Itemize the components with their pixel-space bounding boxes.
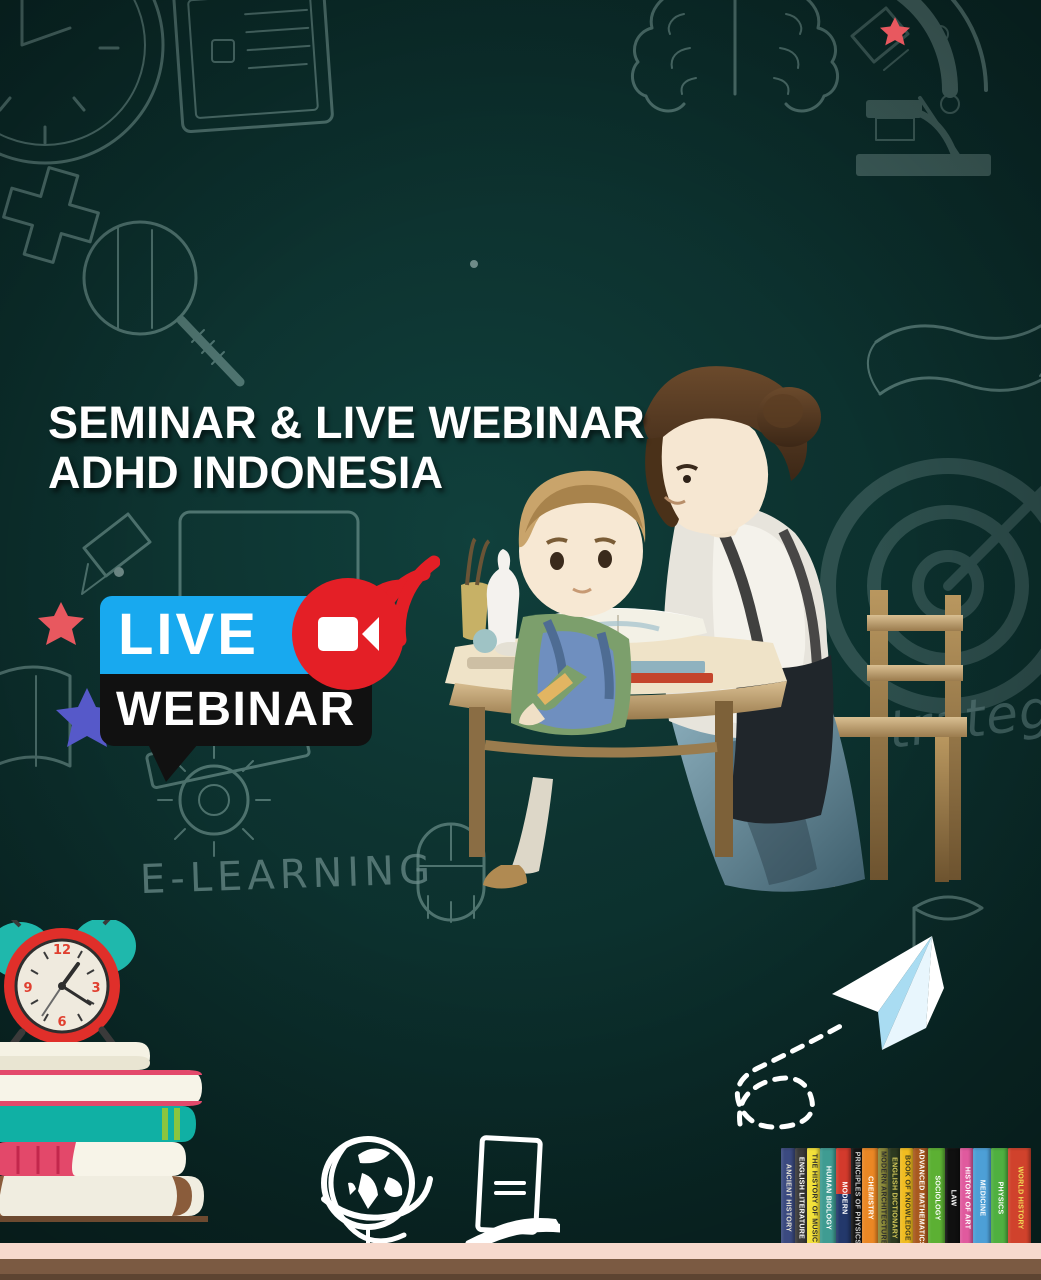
magnifier-icon — [84, 222, 240, 382]
clock-icon — [0, 0, 163, 163]
plane-trail — [737, 1022, 848, 1127]
book-spine: Modern Architecture — [878, 1148, 888, 1248]
globe-icon — [324, 1139, 430, 1257]
book-spine: Physics — [991, 1148, 1008, 1248]
live-webinar-badge[interactable]: LIVE WEBINAR — [96, 556, 446, 786]
paper-plane-decoration — [700, 928, 1000, 1138]
clipboard-icon — [173, 0, 333, 132]
svg-text:3: 3 — [91, 981, 100, 996]
book-spine: Sociology — [928, 1148, 945, 1248]
book-spine: The History of Music — [807, 1148, 820, 1248]
svg-text:12: 12 — [53, 943, 71, 958]
alarm-clock-icon: 12 9 3 6 — [0, 920, 138, 1048]
tablet-book-icon — [468, 1138, 560, 1253]
paper-plane-icon — [832, 936, 944, 1050]
webinar-label: WEBINAR — [116, 680, 366, 740]
star-red-small-icon — [880, 16, 910, 46]
book-spine: English Literature — [795, 1148, 807, 1248]
shelf-surface — [0, 1243, 1041, 1259]
svg-text:6: 6 — [57, 1015, 66, 1030]
book-stack — [0, 1042, 208, 1222]
page-title: SEMINAR & LIVE WEBINAR ADHD INDONESIA — [48, 398, 645, 499]
book-spine: Chemistry — [862, 1148, 878, 1248]
book-spine: Modern — [836, 1148, 851, 1248]
book-spine: History of Art — [960, 1148, 973, 1248]
book-spine: World History — [1008, 1148, 1031, 1248]
poster-canvas: E-LEARNING trateg — [0, 0, 1041, 1280]
book-spine: English Dictionary — [888, 1148, 900, 1248]
book-spine: Advanced Mathematics — [913, 1148, 928, 1248]
title-line-1: SEMINAR & LIVE WEBINAR — [48, 398, 645, 448]
book-spine: Ancient History — [781, 1148, 795, 1248]
bookshelf-row: Ancient History English Literature The H… — [781, 1148, 1041, 1248]
brain-icon — [632, 0, 837, 111]
star-red-icon — [38, 600, 84, 646]
book-spine: Law — [945, 1148, 960, 1248]
video-camera-icon — [318, 613, 380, 655]
svg-text:9: 9 — [23, 981, 32, 996]
alarm-clock-and-books: 12 9 3 6 — [0, 920, 276, 1270]
book-spine: Medicine — [973, 1148, 991, 1248]
book-spine: Principles of Physics — [851, 1148, 862, 1248]
shelf-shadow — [0, 1274, 1041, 1280]
book-spine: Book of Knowledge — [900, 1148, 913, 1248]
book-spine: Human Biology — [820, 1148, 836, 1248]
webinar-bubble-tail — [148, 744, 198, 782]
microscope-icon — [852, 8, 991, 176]
title-line-2: ADHD INDONESIA — [48, 448, 645, 498]
